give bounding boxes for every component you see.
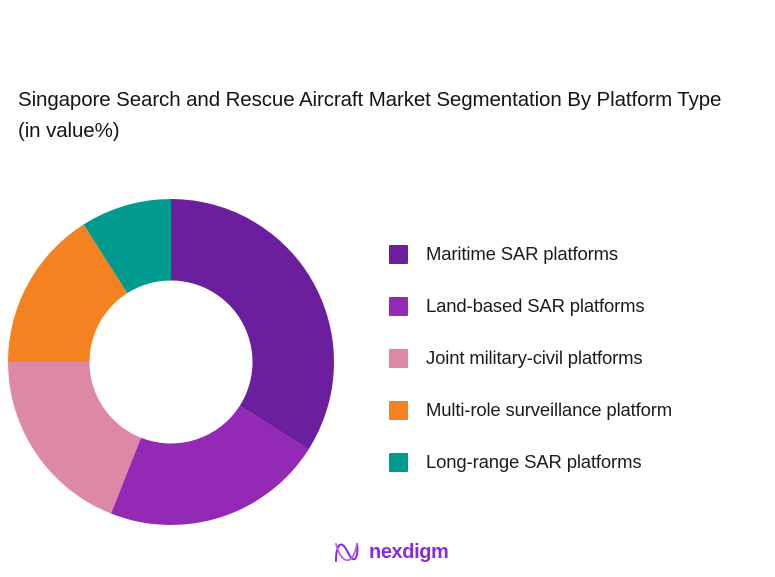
legend-item[interactable]: Multi-role surveillance platform — [389, 384, 769, 436]
legend-swatch-icon — [389, 453, 408, 472]
legend-item[interactable]: Maritime SAR platforms — [389, 228, 769, 280]
legend-swatch-icon — [389, 349, 408, 368]
donut-slice[interactable]: Maritime SAR platforms — 34% — [171, 199, 334, 449]
legend-item-label: Land-based SAR platforms — [426, 295, 645, 317]
nexdigm-wave-icon — [333, 540, 360, 564]
donut-chart: Maritime SAR platforms — 34%Land-based S… — [8, 199, 334, 525]
chart-legend: Maritime SAR platformsLand-based SAR pla… — [389, 228, 769, 488]
legend-item-label: Maritime SAR platforms — [426, 243, 618, 265]
legend-item-label: Joint military-civil platforms — [426, 347, 643, 369]
legend-swatch-icon — [389, 401, 408, 420]
legend-item[interactable]: Land-based SAR platforms — [389, 280, 769, 332]
brand-name: nexdigm — [369, 541, 448, 564]
page-title: Singapore Search and Rescue Aircraft Mar… — [18, 84, 738, 146]
legend-item-label: Multi-role surveillance platform — [426, 399, 672, 421]
chart-page: Singapore Search and Rescue Aircraft Mar… — [0, 0, 775, 577]
legend-item-label: Long-range SAR platforms — [426, 451, 641, 473]
brand-logo: nexdigm — [333, 538, 448, 566]
donut-slice-group: Maritime SAR platforms — 34%Land-based S… — [8, 199, 334, 525]
legend-swatch-icon — [389, 297, 408, 316]
legend-item[interactable]: Long-range SAR platforms — [389, 436, 769, 488]
legend-swatch-icon — [389, 245, 408, 264]
legend-item[interactable]: Joint military-civil platforms — [389, 332, 769, 384]
donut-chart-svg: Maritime SAR platforms — 34%Land-based S… — [8, 199, 334, 525]
